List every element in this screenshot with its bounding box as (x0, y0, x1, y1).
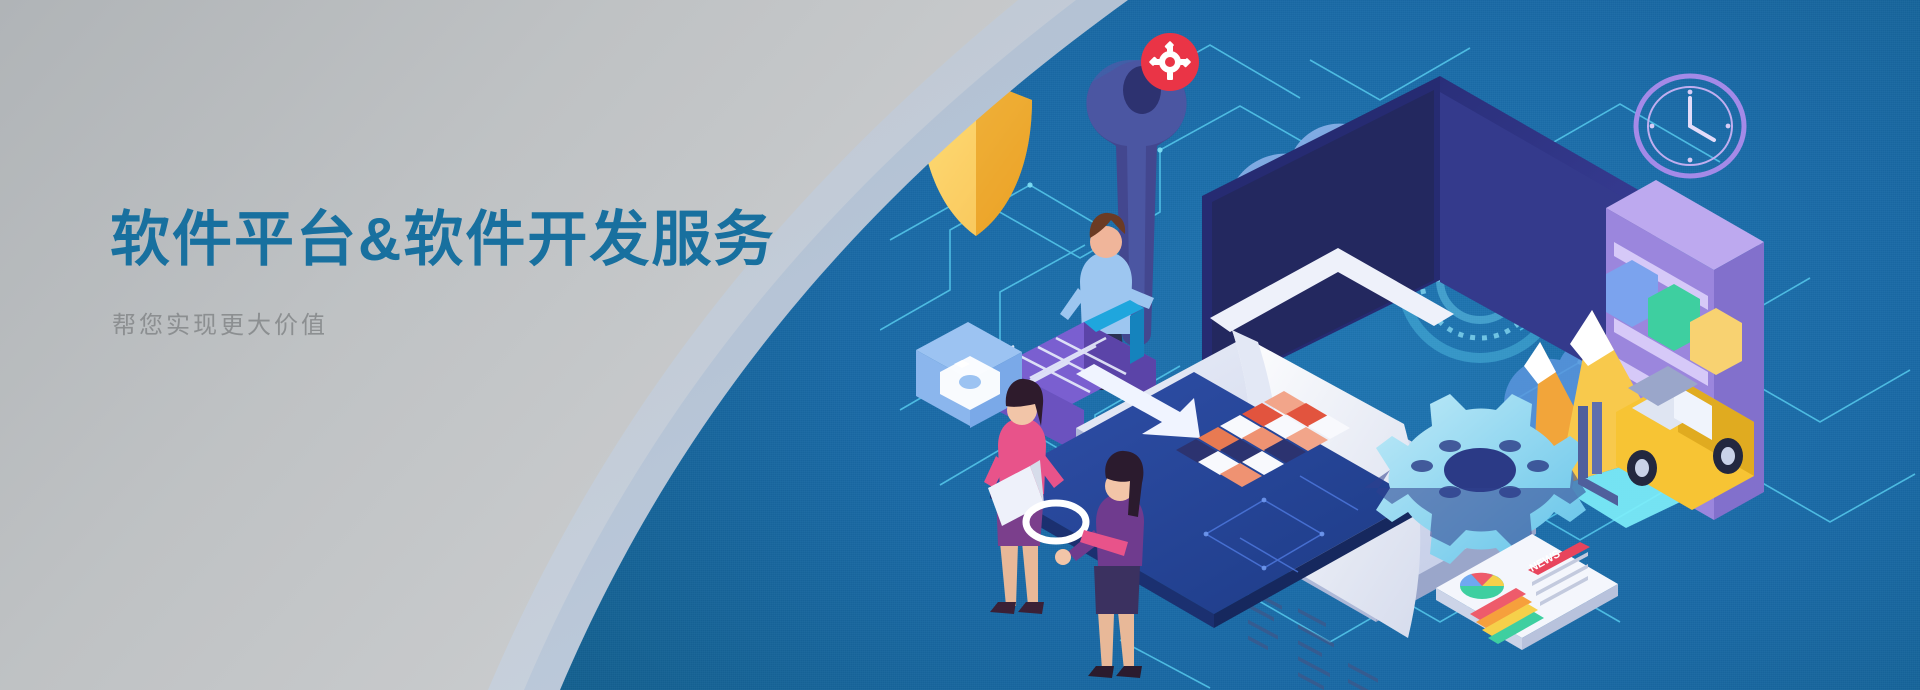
curved-gray-panel (0, 0, 1250, 690)
page-subtitle: 帮您实现更大价值 (112, 312, 870, 341)
hero-banner: NEWS (0, 0, 1920, 690)
page-title: 软件平台&软件开发服务 (110, 205, 870, 274)
clock-icon (1636, 76, 1744, 176)
hero-copy: 软件平台&软件开发服务 帮您实现更大价值 (110, 205, 870, 341)
